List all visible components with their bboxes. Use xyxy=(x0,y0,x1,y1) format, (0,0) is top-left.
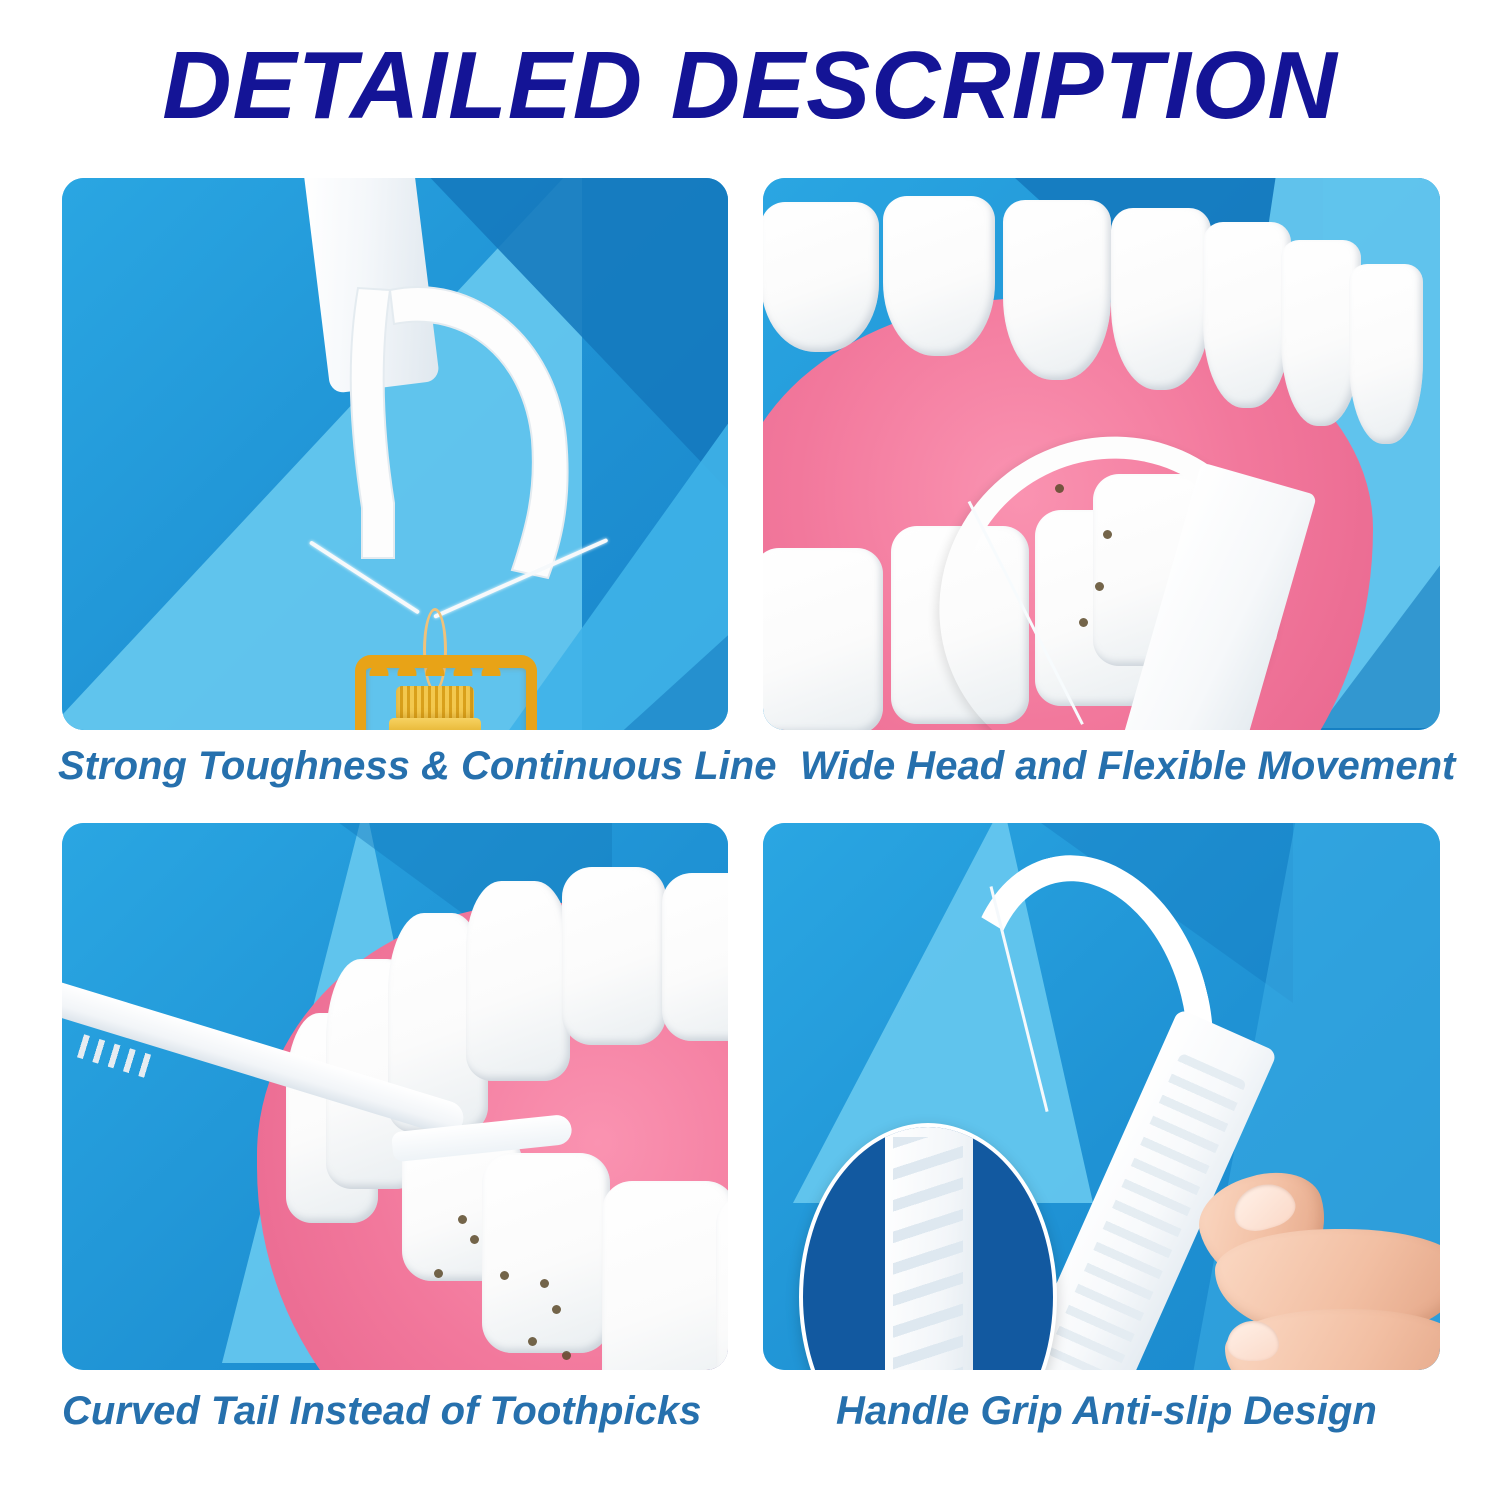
bottle-handle-scallop xyxy=(367,656,503,676)
panel-4-image xyxy=(763,823,1440,1370)
panel-3-image xyxy=(62,823,728,1370)
panel-1-image xyxy=(62,178,728,730)
feature-caption-1: Strong Toughness & Continuous Line xyxy=(58,742,776,790)
fingernail xyxy=(1227,1321,1279,1361)
tooth-molar xyxy=(662,873,728,1041)
panel-2-image xyxy=(763,178,1440,730)
tooth-canine xyxy=(466,881,570,1081)
food-debris xyxy=(528,1337,537,1346)
tooth-premolar xyxy=(562,867,666,1045)
food-debris xyxy=(458,1215,467,1224)
tooth-molar-lower xyxy=(763,548,883,730)
feature-caption-4: Handle Grip Anti-slip Design xyxy=(836,1387,1377,1435)
callout-grip-ridges xyxy=(893,1137,963,1370)
tooth-molar xyxy=(763,202,879,352)
food-debris xyxy=(540,1279,549,1288)
tooth-incisor xyxy=(1111,208,1211,390)
food-debris xyxy=(552,1305,561,1314)
tooth-molar-lower xyxy=(716,1195,728,1370)
tooth-molar-lower xyxy=(602,1181,728,1370)
tooth-incisor xyxy=(1003,200,1111,380)
food-debris xyxy=(562,1351,571,1360)
tooth-molar xyxy=(883,196,995,356)
feature-card-1 xyxy=(62,178,728,730)
page-title: DETAILED DESCRIPTION xyxy=(0,34,1500,138)
food-debris xyxy=(470,1235,479,1244)
food-debris xyxy=(434,1269,443,1278)
feature-caption-2: Wide Head and Flexible Movement xyxy=(800,742,1455,790)
bottle-cap-top xyxy=(396,686,474,722)
feature-card-2 xyxy=(763,178,1440,730)
food-debris xyxy=(500,1271,509,1280)
feature-caption-3: Curved Tail Instead of Toothpicks xyxy=(62,1387,701,1435)
feature-card-3 xyxy=(62,823,728,1370)
tooth-canine xyxy=(1203,222,1291,408)
bottle-cap-body xyxy=(389,718,481,730)
tooth-molar-lower xyxy=(482,1153,610,1353)
tooth-premolar xyxy=(1349,264,1423,444)
feature-card-4 xyxy=(763,823,1440,1370)
infographic-page: DETAILED DESCRIPTION xyxy=(0,0,1500,1500)
